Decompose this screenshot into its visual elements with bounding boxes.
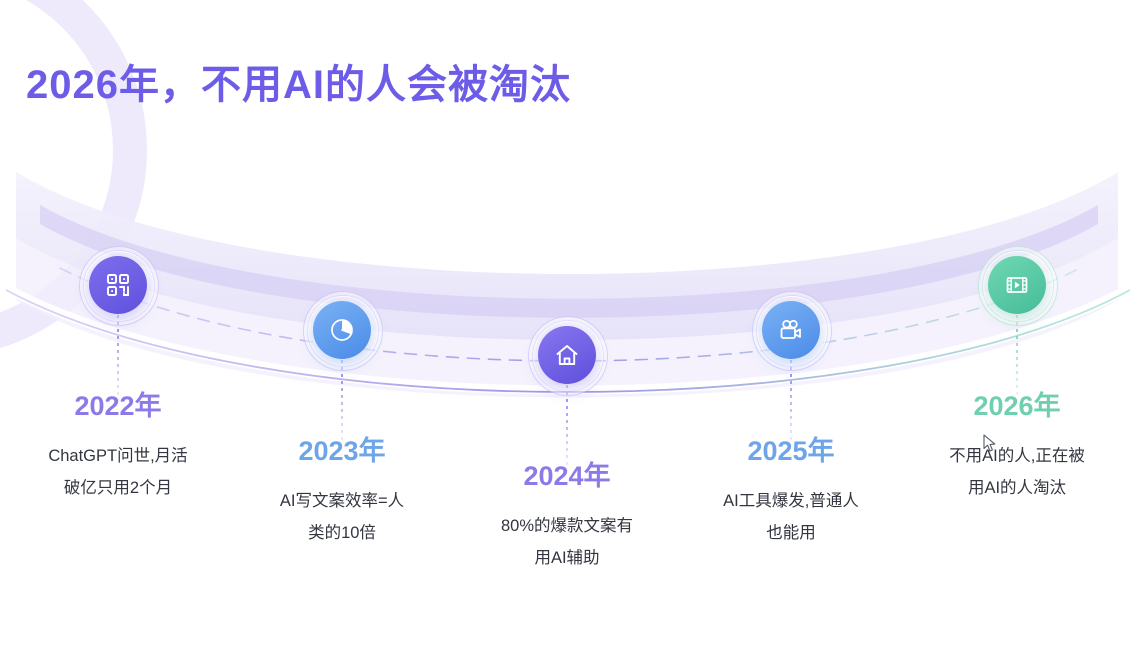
node-icon-badge-2024[interactable]	[538, 326, 596, 384]
desc-line: 不用AI的人,正在被	[887, 440, 1135, 472]
timeline-caption-2024: 2024年 80%的爆款文案有 用AI辅助	[437, 462, 697, 574]
slide-canvas: 2026年，不用AI的人会被淘汰 2022年 ChatGPT问世,月活	[0, 0, 1135, 649]
node-icon-badge-2026[interactable]	[988, 256, 1046, 314]
timeline-caption-2022: 2022年 ChatGPT问世,月活 破亿只用2个月	[0, 392, 248, 504]
desc-2022: ChatGPT问世,月活 破亿只用2个月	[0, 440, 248, 504]
home-icon	[553, 341, 581, 369]
desc-line: 破亿只用2个月	[0, 472, 248, 504]
node-connector-2022	[117, 315, 119, 401]
qr-code-icon	[104, 271, 132, 299]
desc-line: ChatGPT问世,月活	[0, 440, 248, 472]
desc-2023: AI写文案效率=人 类的10倍	[212, 485, 472, 549]
desc-line: 也能用	[661, 517, 921, 549]
desc-line: 用AI的人淘汰	[887, 472, 1135, 504]
video-camera-icon	[777, 316, 805, 344]
node-icon-badge-2023[interactable]	[313, 301, 371, 359]
year-label-2022: 2022年	[0, 392, 248, 422]
desc-2025: AI工具爆发,普通人 也能用	[661, 485, 921, 549]
desc-line: 类的10倍	[212, 517, 472, 549]
desc-line: 80%的爆款文案有	[437, 510, 697, 542]
desc-line: 用AI辅助	[437, 542, 697, 574]
timeline-caption-2026: 2026年 不用AI的人,正在被 用AI的人淘汰	[887, 392, 1135, 504]
node-connector-2024	[566, 385, 568, 469]
node-connector-2025	[790, 360, 792, 444]
desc-2024: 80%的爆款文案有 用AI辅助	[437, 510, 697, 574]
desc-line: AI工具爆发,普通人	[661, 485, 921, 517]
year-label-2026: 2026年	[887, 392, 1135, 422]
node-icon-badge-2022[interactable]	[89, 256, 147, 314]
node-connector-2023	[341, 360, 343, 444]
film-play-icon	[1003, 271, 1031, 299]
page-title: 2026年，不用AI的人会被淘汰	[26, 52, 571, 110]
node-connector-2026	[1016, 315, 1018, 401]
node-icon-badge-2025[interactable]	[762, 301, 820, 359]
pie-chart-icon	[328, 316, 356, 344]
desc-line: AI写文案效率=人	[212, 485, 472, 517]
timeline-caption-2023: 2023年 AI写文案效率=人 类的10倍	[212, 437, 472, 549]
timeline-caption-2025: 2025年 AI工具爆发,普通人 也能用	[661, 437, 921, 549]
desc-2026: 不用AI的人,正在被 用AI的人淘汰	[887, 440, 1135, 504]
mouse-pointer-icon	[983, 434, 997, 454]
